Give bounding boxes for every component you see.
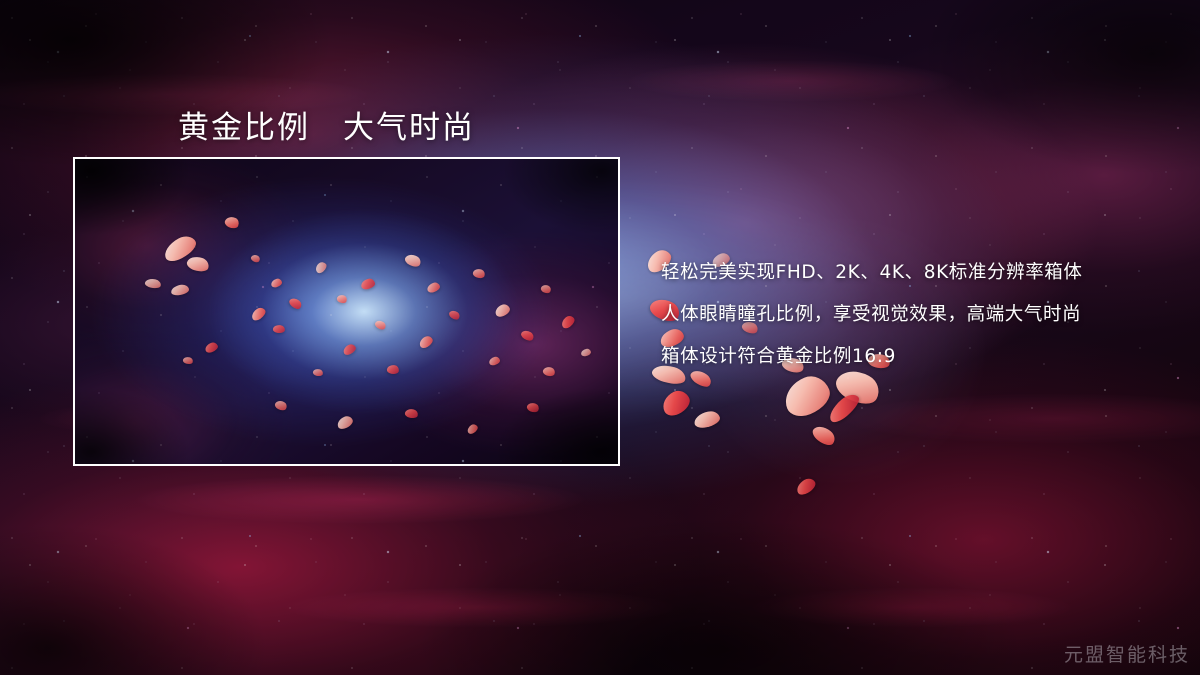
body-line-3: 箱体设计符合黄金比例16:9 <box>661 336 1171 378</box>
body-copy: 轻松完美实现FHD、2K、4K、8K标准分辨率箱体 人体眼睛瞳孔比例，享受视觉效… <box>661 252 1171 378</box>
framed-vignette <box>75 159 618 464</box>
framed-image <box>73 157 620 466</box>
presentation-slide: 黄金比例 大气时尚 轻松完美实现FHD、2K、4K、8K标准分辨率箱体 人体眼睛… <box>0 0 1200 675</box>
page-title: 黄金比例 大气时尚 <box>178 102 475 147</box>
watermark: 元盟智能科技 <box>1064 640 1190 667</box>
body-line-2: 人体眼睛瞳孔比例，享受视觉效果，高端大气时尚 <box>661 294 1171 336</box>
body-line-1: 轻松完美实现FHD、2K、4K、8K标准分辨率箱体 <box>661 252 1171 294</box>
framed-image-content <box>75 159 618 464</box>
